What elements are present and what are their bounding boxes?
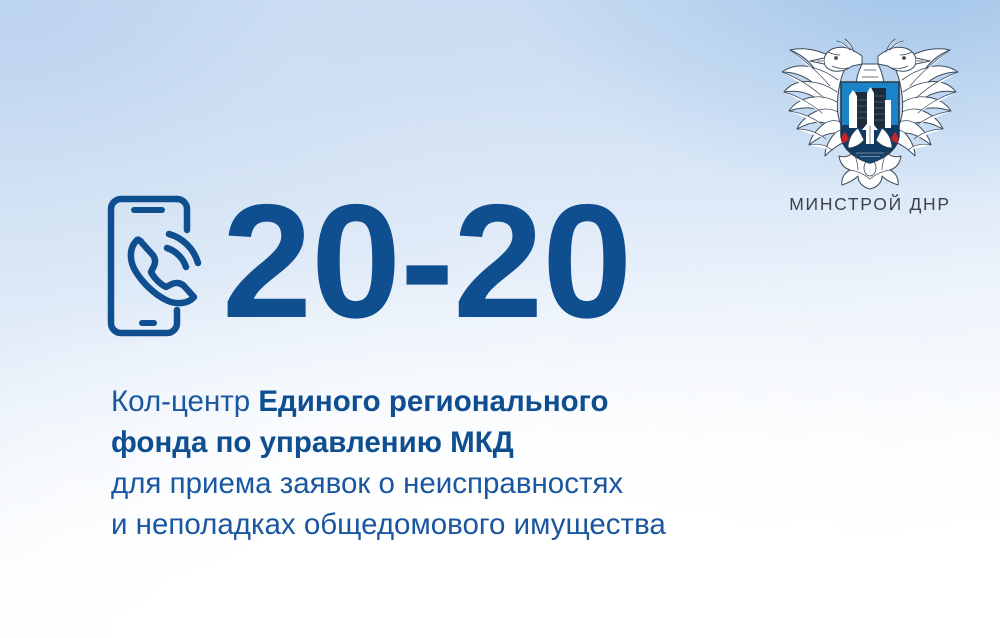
hotline-number: 20-20: [222, 181, 631, 343]
dnr-coat-of-arms-eagle-icon: [770, 22, 970, 190]
description-line-1-bold: Единого регионального: [258, 385, 608, 418]
description-line-1-regular: Кол-центр: [111, 385, 258, 418]
description-line-2: фонда по управлению МКД: [111, 422, 811, 463]
ministry-emblem-block: МИНСТРОЙ ДНР: [770, 22, 970, 215]
description-line-1: Кол-центр Единого регионального: [111, 381, 811, 422]
dnr-shield: [841, 82, 899, 163]
ministry-emblem-caption: МИНСТРОЙ ДНР: [770, 194, 970, 215]
smartphone-call-icon: [104, 186, 208, 342]
description-line-3: для приема заявок о неисправностях: [111, 463, 811, 504]
poster-canvas: МИНСТРОЙ ДНР 20-20 Кол-центр Единого рег…: [0, 0, 1000, 638]
hotline-description: Кол-центр Единого регионального фонда по…: [111, 381, 811, 545]
description-line-4: и неполадках общедомового имущества: [111, 504, 811, 545]
